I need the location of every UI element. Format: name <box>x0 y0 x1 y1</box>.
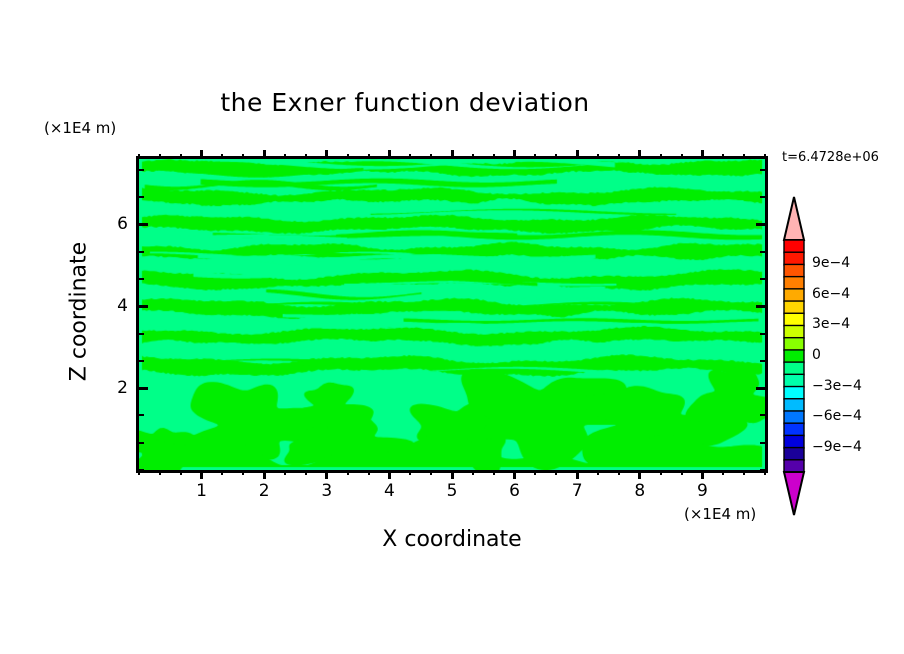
x-tick-minor-top <box>764 154 766 159</box>
x-tick-minor-top <box>493 154 495 159</box>
colorbar-segment <box>784 374 804 387</box>
x-tick-minor <box>555 470 557 475</box>
y-tick-major <box>139 305 148 308</box>
x-tick-label: 2 <box>249 481 279 501</box>
x-tick-major <box>638 470 641 479</box>
x-tick-minor <box>159 470 161 475</box>
x-tick-minor-top <box>159 154 161 159</box>
x-tick-major-top <box>200 150 203 159</box>
x-tick-minor <box>534 470 536 475</box>
colorbar <box>782 196 806 516</box>
x-tick-major-top <box>513 150 516 159</box>
x-tick-major-top <box>263 150 266 159</box>
x-tick-major <box>263 470 266 479</box>
x-tick-minor-top <box>221 154 223 159</box>
x-tick-minor-top <box>681 154 683 159</box>
colorbar-segment <box>784 423 804 436</box>
x-tick-label: 4 <box>374 481 404 501</box>
y-tick-minor <box>139 360 144 362</box>
colorbar-segment <box>784 460 804 473</box>
y-tick-label: 2 <box>102 378 128 398</box>
colorbar-segment <box>784 264 804 277</box>
x-tick-minor-top <box>347 154 349 159</box>
x-tick-major <box>576 470 579 479</box>
colorbar-tick-label: −3e−4 <box>812 378 862 394</box>
x-tick-minor-top <box>368 154 370 159</box>
y-tick-major <box>139 387 148 390</box>
x-tick-major-top <box>451 150 454 159</box>
x-tick-minor-top <box>472 154 474 159</box>
y-tick-major <box>139 223 148 226</box>
colorbar-under-arrow <box>784 472 804 515</box>
x-tick-minor <box>242 470 244 475</box>
x-tick-label: 9 <box>687 481 717 501</box>
colorbar-segment <box>784 313 804 326</box>
x-tick-minor-top <box>305 154 307 159</box>
contour-field <box>139 159 765 470</box>
x-tick-minor-top <box>597 154 599 159</box>
y-tick-minor <box>139 196 144 198</box>
x-tick-minor-top <box>284 154 286 159</box>
page-title: the Exner function deviation <box>0 88 810 117</box>
x-tick-minor <box>472 470 474 475</box>
x-tick-minor-top <box>242 154 244 159</box>
colorbar-tick-label: −9e−4 <box>812 439 862 455</box>
x-tick-major <box>513 470 516 479</box>
colorbar-segment <box>784 387 804 400</box>
y-tick-label: 4 <box>102 296 128 316</box>
colorbar-tick-label: 9e−4 <box>812 255 850 271</box>
x-tick-minor-top <box>180 154 182 159</box>
y-tick-minor-right <box>760 333 765 335</box>
colorbar-segment <box>784 325 804 338</box>
x-tick-minor <box>284 470 286 475</box>
colorbar-segment <box>784 301 804 314</box>
x-tick-minor <box>660 470 662 475</box>
x-tick-minor-top <box>409 154 411 159</box>
x-tick-major <box>388 470 391 479</box>
x-tick-minor <box>681 470 683 475</box>
y-axis-unit-label: (×1E4 m) <box>44 119 116 137</box>
x-tick-minor <box>409 470 411 475</box>
x-tick-minor <box>430 470 432 475</box>
y-tick-label: 6 <box>102 214 128 234</box>
x-tick-major <box>451 470 454 479</box>
y-tick-minor <box>139 251 144 253</box>
colorbar-segment <box>784 435 804 448</box>
colorbar-over-arrow <box>784 197 804 240</box>
x-tick-minor-top <box>138 154 140 159</box>
y-tick-major-right <box>756 305 765 308</box>
colorbar-tick-label: 3e−4 <box>812 316 850 332</box>
x-tick-minor-top <box>534 154 536 159</box>
x-tick-minor-top <box>555 154 557 159</box>
x-tick-label: 8 <box>625 481 655 501</box>
colorbar-segment <box>784 448 804 461</box>
time-stamp-label: t=6.4728e+06 <box>782 150 879 165</box>
x-tick-minor <box>221 470 223 475</box>
x-tick-major-top <box>701 150 704 159</box>
x-tick-minor-top <box>660 154 662 159</box>
colorbar-segment <box>784 399 804 412</box>
colorbar-segment <box>784 289 804 302</box>
x-tick-minor <box>618 470 620 475</box>
x-tick-minor <box>180 470 182 475</box>
plot-area <box>136 156 768 473</box>
y-axis-title: Z coordinate <box>67 212 92 412</box>
colorbar-segment <box>784 277 804 290</box>
x-tick-major <box>701 470 704 479</box>
colorbar-tick-label: 6e−4 <box>812 286 850 302</box>
y-tick-minor-right <box>760 251 765 253</box>
y-tick-minor-right <box>760 169 765 171</box>
x-axis-title: X coordinate <box>136 527 768 552</box>
x-tick-label: 5 <box>437 481 467 501</box>
x-tick-minor <box>493 470 495 475</box>
x-tick-minor <box>305 470 307 475</box>
x-tick-label: 7 <box>562 481 592 501</box>
x-tick-major <box>325 470 328 479</box>
y-tick-minor-right <box>760 414 765 416</box>
colorbar-segment <box>784 411 804 424</box>
x-tick-label: 3 <box>312 481 342 501</box>
x-tick-minor <box>347 470 349 475</box>
colorbar-swatches <box>782 196 806 516</box>
x-tick-major-top <box>388 150 391 159</box>
y-tick-minor-right <box>760 360 765 362</box>
x-axis-unit-label: (×1E4 m) <box>684 505 756 523</box>
y-tick-minor <box>139 414 144 416</box>
colorbar-tick-label: 0 <box>812 347 821 363</box>
colorbar-segment <box>784 350 804 363</box>
colorbar-segment <box>784 362 804 375</box>
x-tick-major-top <box>325 150 328 159</box>
x-tick-minor-top <box>618 154 620 159</box>
x-tick-minor <box>368 470 370 475</box>
y-tick-minor <box>139 169 144 171</box>
y-tick-minor-right <box>760 278 765 280</box>
colorbar-segment <box>784 240 804 253</box>
y-tick-minor <box>139 278 144 280</box>
y-tick-minor <box>139 442 144 444</box>
y-tick-major-right <box>756 223 765 226</box>
y-tick-minor <box>139 333 144 335</box>
y-tick-minor-right <box>760 442 765 444</box>
colorbar-tick-label: −6e−4 <box>812 408 862 424</box>
x-tick-minor <box>722 470 724 475</box>
x-tick-minor-top <box>430 154 432 159</box>
y-tick-minor-right <box>760 196 765 198</box>
x-tick-minor-top <box>722 154 724 159</box>
x-tick-label: 1 <box>187 481 217 501</box>
y-tick-minor-right <box>760 469 765 471</box>
y-tick-major-right <box>756 387 765 390</box>
colorbar-segment <box>784 252 804 265</box>
figure-canvas: the Exner function deviation (×1E4 m) (×… <box>0 0 904 654</box>
colorbar-segment <box>784 338 804 351</box>
x-tick-minor <box>743 470 745 475</box>
x-tick-label: 6 <box>500 481 530 501</box>
x-tick-minor-top <box>743 154 745 159</box>
x-tick-major-top <box>576 150 579 159</box>
y-tick-minor <box>139 469 144 471</box>
x-tick-major <box>200 470 203 479</box>
x-tick-minor <box>597 470 599 475</box>
x-tick-major-top <box>638 150 641 159</box>
